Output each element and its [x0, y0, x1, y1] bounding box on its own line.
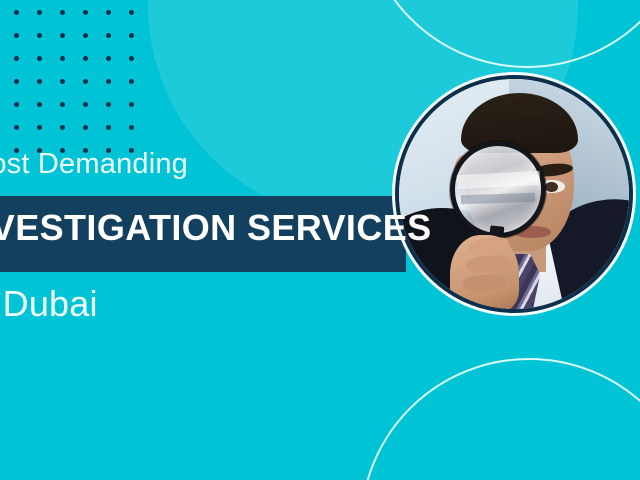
grid-dot: [129, 56, 134, 61]
grid-dot: [129, 10, 134, 15]
grid-dot: [83, 56, 88, 61]
investigator-portrait: [392, 72, 636, 316]
grid-dot: [37, 33, 42, 38]
deco-ring-top-icon: [362, 0, 640, 68]
grid-dot: [106, 102, 111, 107]
grid-dot: [106, 10, 111, 15]
page-title: INVESTIGATION SERVICES: [0, 207, 424, 249]
grid-dot: [60, 10, 65, 15]
grid-dot: [60, 125, 65, 130]
grid-dot: [83, 33, 88, 38]
banner-canvas: Most Demanding INVESTIGATION SERVICES in…: [0, 0, 640, 480]
grid-dot: [37, 102, 42, 107]
grid-dot: [60, 102, 65, 107]
grid-dot: [106, 125, 111, 130]
portrait-image: [399, 79, 629, 309]
dot-grid-pattern: [14, 10, 144, 102]
grid-dot: [37, 125, 42, 130]
deco-ring-bottom-icon: [360, 358, 640, 480]
grid-dot: [83, 102, 88, 107]
grid-dot: [14, 79, 19, 84]
grid-dot: [37, 56, 42, 61]
grid-dot: [14, 10, 19, 15]
eyebrow-text: Most Demanding: [0, 148, 406, 181]
grid-dot: [129, 125, 134, 130]
grid-dot: [37, 79, 42, 84]
grid-dot: [106, 79, 111, 84]
grid-dot: [14, 102, 19, 107]
grid-dot: [60, 56, 65, 61]
magnifying-glass-icon: [450, 141, 547, 238]
subtitle-text: in Dubai: [0, 283, 404, 325]
grid-dot: [83, 125, 88, 130]
grid-dot: [60, 79, 65, 84]
grid-dot: [129, 102, 134, 107]
grid-dot: [106, 33, 111, 38]
grid-dot: [60, 33, 65, 38]
grid-dot: [129, 33, 134, 38]
grid-dot: [14, 125, 19, 130]
grid-dot: [129, 79, 134, 84]
grid-dot: [83, 79, 88, 84]
grid-dot: [106, 56, 111, 61]
grid-dot: [14, 33, 19, 38]
grid-dot: [37, 10, 42, 15]
grid-dot: [14, 56, 19, 61]
pupil: [545, 182, 558, 193]
grid-dot: [83, 10, 88, 15]
